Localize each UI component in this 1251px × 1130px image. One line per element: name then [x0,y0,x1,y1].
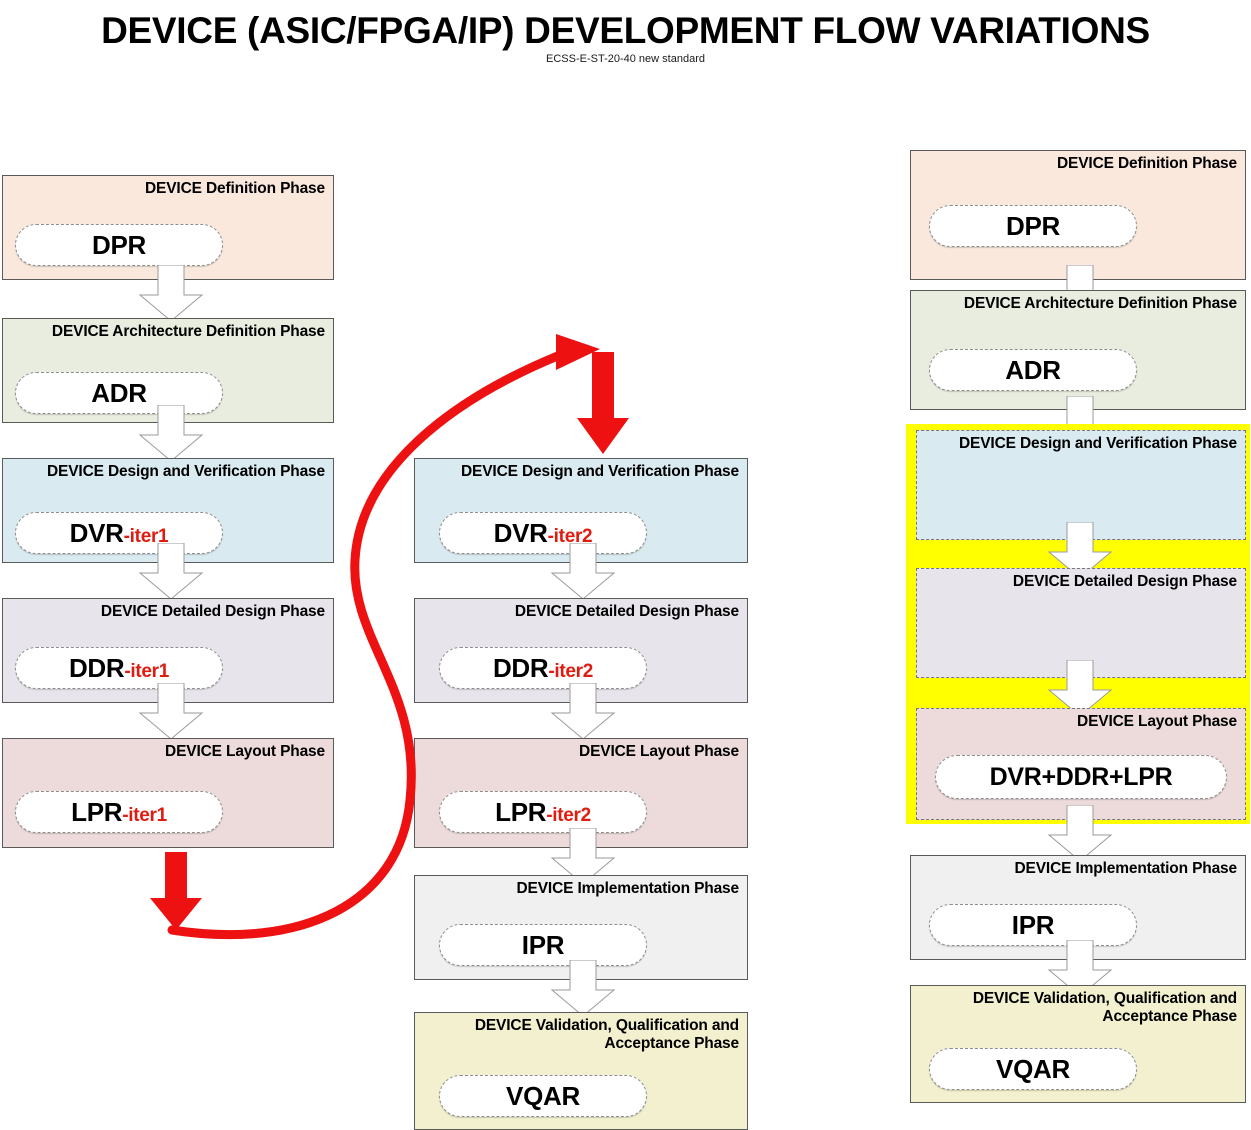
review-pill-label: LPR-iter2 [495,799,591,825]
review-pill-dpr[interactable]: DPR [929,205,1137,247]
phase-box-layout[interactable]: DEVICE Layout Phase DVR+DDR+LPR [916,708,1246,820]
review-pill-label: DPR [92,232,146,258]
review-pill-label: IPR [1012,912,1054,938]
red-down-arrow-exit [150,852,202,930]
phase-header: DEVICE Layout Phase [923,713,1237,731]
phase-box-validation[interactable]: DEVICE Validation, Qualification and Acc… [910,985,1246,1103]
review-pill-label: DVR+DDR+LPR [990,765,1173,790]
phase-header: DEVICE Definition Phase [9,180,325,198]
flow-arrow-down [136,543,206,601]
phase-header: DEVICE Detailed Design Phase [923,573,1237,591]
review-pill-label: ADR [1005,357,1060,383]
review-pill-vqar[interactable]: VQAR [439,1075,647,1117]
flow-arrow-down [136,683,206,741]
review-pill-label: IPR [522,932,564,958]
red-down-arrow-entry [577,352,629,454]
flow-arrow-down [548,543,618,601]
review-pill-label: DDR-iter2 [493,655,593,681]
review-pill-label: ADR [91,380,146,406]
review-pill-lpr-iter2[interactable]: LPR-iter2 [439,791,647,833]
page-title: DEVICE (ASIC/FPGA/IP) DEVELOPMENT FLOW V… [0,10,1251,52]
phase-header: DEVICE Architecture Definition Phase [917,295,1237,313]
review-pill-label: DPR [1006,213,1060,239]
flow-arrow-down [548,683,618,741]
review-pill-dpr[interactable]: DPR [15,224,223,266]
iteration-loop-arrowhead [556,334,600,370]
flow-arrow-down [136,265,206,323]
flow-arrow-down [548,960,618,1018]
phase-header: DEVICE Architecture Definition Phase [9,323,325,341]
flow-arrow-down [136,405,206,463]
phase-header: DEVICE Detailed Design Phase [421,603,739,621]
phase-header: DEVICE Validation, Qualification and Acc… [421,1017,739,1054]
review-pill-vqar[interactable]: VQAR [929,1048,1137,1090]
phase-header: DEVICE Layout Phase [421,743,739,761]
page-subtitle: ECSS-E-ST-20-40 new standard [0,53,1251,65]
phase-box-definition[interactable]: DEVICE Definition Phase DPR [910,150,1246,280]
review-pill-dvr-ddr-lpr[interactable]: DVR+DDR+LPR [935,755,1227,799]
review-pill-label: LPR-iter1 [71,799,167,825]
review-pill-label: VQAR [996,1056,1070,1082]
phase-box-layout[interactable]: DEVICE Layout Phase LPR-iter1 [2,738,334,848]
phase-header: DEVICE Implementation Phase [421,880,739,898]
phase-header: DEVICE Definition Phase [917,155,1237,173]
phase-header: DEVICE Implementation Phase [917,860,1237,878]
diagram-canvas: DEVICE (ASIC/FPGA/IP) DEVELOPMENT FLOW V… [0,0,1251,1130]
review-pill-label: DDR-iter1 [69,655,169,681]
review-pill-label: VQAR [506,1083,580,1109]
phase-header: DEVICE Design and Verification Phase [421,463,739,481]
phase-header: DEVICE Design and Verification Phase [923,435,1237,453]
phase-header: DEVICE Layout Phase [9,743,325,761]
phase-header: DEVICE Validation, Qualification and Acc… [917,990,1237,1027]
phase-box-architecture[interactable]: DEVICE Architecture Definition Phase ADR [910,290,1246,410]
phase-header: DEVICE Detailed Design Phase [9,603,325,621]
phase-header: DEVICE Design and Verification Phase [9,463,325,481]
review-pill-lpr-iter1[interactable]: LPR-iter1 [15,791,223,833]
phase-box-validation[interactable]: DEVICE Validation, Qualification and Acc… [414,1012,748,1130]
review-pill-adr[interactable]: ADR [929,349,1137,391]
